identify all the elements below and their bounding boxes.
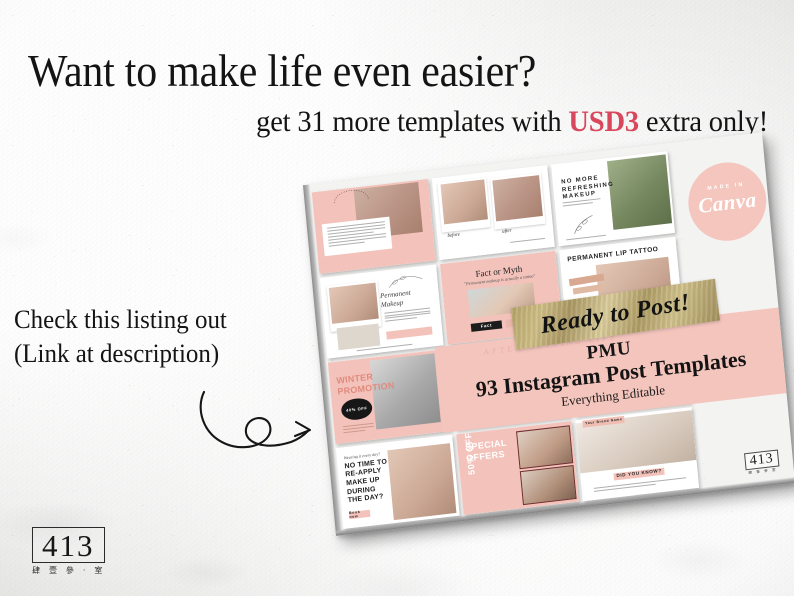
template-card[interactable] (312, 179, 436, 274)
brand-subtitle: 肆 壹 參 · 室 (32, 565, 106, 576)
poster-canvas: Want to make life even easier? get 31 mo… (0, 0, 794, 596)
board-watermark-number: 413 (749, 451, 774, 469)
template-card[interactable]: WINTER PROMOTION 40% OFF (328, 349, 452, 444)
brand-number: 413 (42, 529, 95, 562)
card-headline: NO TIME TO RE-APPLY MAKE UP DURING THE D… (344, 458, 392, 506)
template-card[interactable]: NO MORE REFRESHING MAKEUP (551, 151, 675, 246)
card-discount-label: 40% OFF (341, 397, 373, 422)
curly-arrow-icon (196, 386, 322, 458)
headline-secondary-pre: get 31 more templates with (256, 105, 568, 138)
template-card[interactable]: before after (432, 165, 556, 260)
mockup-wrapper: before after NO MORE REFRESHING MAKEUP (318, 158, 788, 538)
cta-line-1: Check this listing out (14, 303, 321, 337)
card-button[interactable]: Book now (349, 509, 371, 519)
headline-block: Want to make life even easier? get 31 mo… (28, 46, 768, 140)
template-card[interactable]: Your Brand Name DID YOU KNOW? (576, 407, 700, 502)
brand-logo: 413 肆 壹 參 · 室 (32, 527, 106, 576)
price-accent: USD3 (568, 105, 639, 138)
mockup-board[interactable]: before after NO MORE REFRESHING MAKEUP (303, 132, 794, 536)
board-watermark: 413 肆 壹 參 室 (744, 449, 780, 476)
headline-primary: Want to make life even easier? (28, 46, 716, 96)
made-in-canva-badge: MADE IN Canva (685, 158, 770, 245)
template-card[interactable]: SPECIAL OFFERS 50% OFF (456, 420, 580, 515)
brand-logo-box: 413 (32, 527, 105, 563)
template-card[interactable]: Wearing it every day? NO TIME TO RE-APPL… (336, 434, 460, 529)
headline-secondary: get 31 more templates with USD3 extra on… (65, 104, 768, 140)
cta-line-2: (Link at description) (14, 337, 321, 371)
template-card[interactable]: Permanent Makeup (320, 264, 444, 359)
cta-block: Check this listing out (Link at descript… (14, 303, 334, 371)
